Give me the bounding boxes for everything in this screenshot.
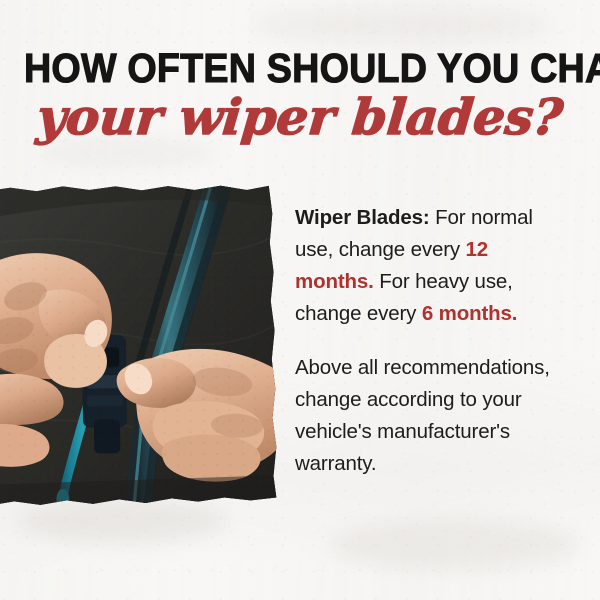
infographic-canvas: HOW OFTEN SHOULD YOU CHANGE your wiper b…: [0, 0, 600, 600]
text-segment: Wiper Blades:: [295, 206, 430, 229]
body-copy: Wiper Blades: For normal use, change eve…: [295, 202, 570, 480]
headline-script-subtitle: your wiper blades?: [0, 90, 600, 144]
text-segment: Above all recommendations, change accord…: [295, 356, 550, 475]
paper-smudge: [250, 8, 550, 42]
headline: HOW OFTEN SHOULD YOU CHANGE: [24, 46, 576, 90]
paragraph-manufacturer-warranty-note: Above all recommendations, change accord…: [295, 352, 570, 480]
photo-frame: [0, 181, 280, 509]
paper-smudge: [330, 520, 580, 570]
text-segment-highlight: 6 months.: [422, 302, 517, 325]
wiper-blade-installation-photo: [0, 181, 280, 509]
photo-illustration: [0, 181, 280, 509]
paragraph-wiper-blades-interval: Wiper Blades: For normal use, change eve…: [295, 202, 570, 330]
